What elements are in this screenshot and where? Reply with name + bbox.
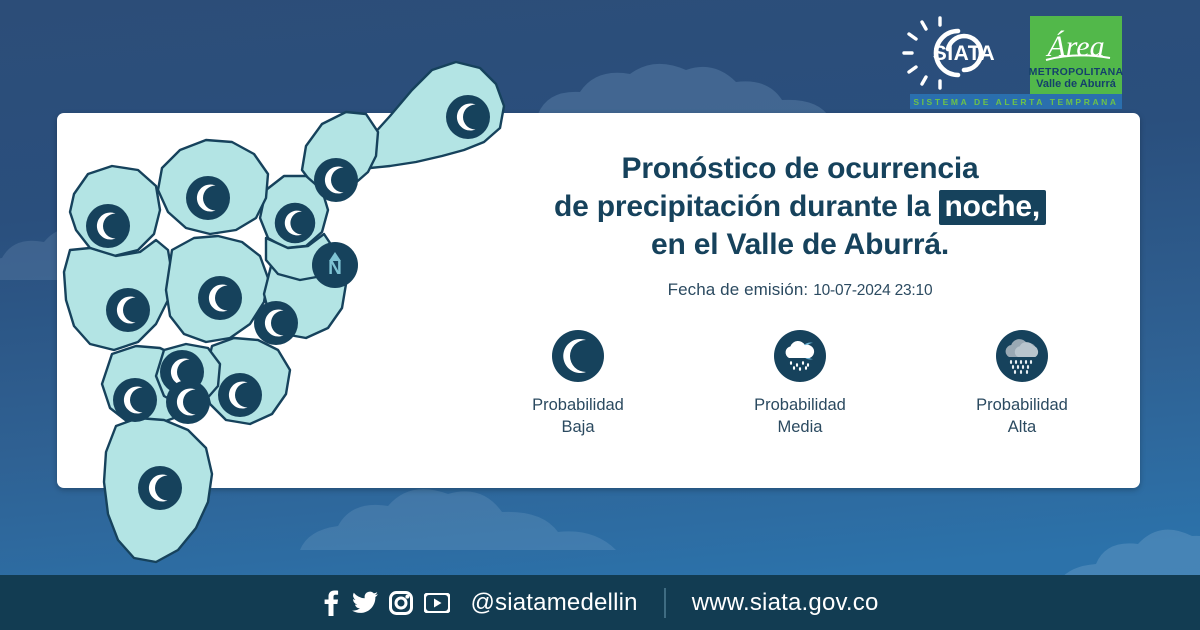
- area-logo-line1: METROPOLITANA: [1029, 66, 1124, 78]
- title-highlight-noche: noche,: [939, 190, 1046, 226]
- moon-icon: [552, 330, 604, 382]
- legend-label-line1: Probabilidad: [725, 394, 875, 416]
- twitter-icon[interactable]: [352, 591, 378, 615]
- emission-label: Fecha de emisión:: [668, 280, 809, 299]
- legend-label-line1: Probabilidad: [947, 394, 1097, 416]
- title-line-2-text: de precipitación durante la: [554, 190, 930, 223]
- cloud-heavy-rain-icon: [996, 330, 1048, 382]
- legend-item-baja: Probabilidad Baja: [503, 330, 653, 439]
- legend-item-alta: Probabilidad Alta: [947, 330, 1097, 439]
- area-logo-line2: Valle de Aburrá: [1036, 78, 1116, 91]
- emission-date: 10-07-2024 23:10: [813, 282, 932, 299]
- cloud-rain-moon-icon: [774, 330, 826, 382]
- legend-label-alta: Probabilidad Alta: [947, 394, 1097, 439]
- social-icons: [321, 590, 450, 616]
- legend: Probabilidad Baja Proba: [470, 330, 1130, 439]
- legend-label-line2: Media: [725, 416, 875, 438]
- social-handle[interactable]: @siatamedellin: [470, 589, 637, 617]
- emission-line: Fecha de emisión:10-07-2024 23:10: [470, 280, 1130, 300]
- compass-rose: N: [312, 242, 358, 288]
- headline-block: Pronóstico de ocurrencia de precipitació…: [470, 150, 1130, 300]
- title-line-2: de precipitación durante la noche,: [470, 188, 1130, 226]
- siata-logo: SIATA: [902, 16, 1022, 90]
- legend-label-baja: Probabilidad Baja: [503, 394, 653, 439]
- legend-item-media: Probabilidad Media: [725, 330, 875, 439]
- title-line-1: Pronóstico de ocurrencia: [470, 150, 1130, 188]
- website-url[interactable]: www.siata.gov.co: [692, 589, 879, 617]
- facebook-icon[interactable]: [321, 590, 341, 616]
- tagline-bar: SISTEMA DE ALERTA TEMPRANA: [910, 94, 1122, 109]
- svg-text:N: N: [328, 258, 342, 279]
- area-script-wordmark: Área: [1030, 18, 1122, 68]
- page-title: Pronóstico de ocurrencia de precipitació…: [470, 150, 1130, 263]
- background-cloud-bottom-right: [1060, 510, 1200, 580]
- youtube-icon[interactable]: [424, 593, 450, 613]
- legend-label-line1: Probabilidad: [503, 394, 653, 416]
- instagram-icon[interactable]: [389, 591, 413, 615]
- infographic-canvas: N Pronóstico de ocurrencia: [0, 0, 1200, 630]
- area-metropolitana-logo: Área METROPOLITANA Valle de Aburrá: [1030, 16, 1122, 94]
- legend-label-line2: Baja: [503, 416, 653, 438]
- legend-label-line2: Alta: [947, 416, 1097, 438]
- legend-label-media: Probabilidad Media: [725, 394, 875, 439]
- svg-text:SIATA: SIATA: [933, 42, 995, 65]
- logo-group: SIATA Área METROPOLITANA Valle de Aburrá: [902, 16, 1122, 94]
- title-line-3: en el Valle de Aburrá.: [470, 226, 1130, 264]
- footer-bar: @siatamedellin www.siata.gov.co: [0, 575, 1200, 630]
- valle-de-aburra-map: N: [60, 50, 520, 570]
- footer-divider: [664, 588, 666, 618]
